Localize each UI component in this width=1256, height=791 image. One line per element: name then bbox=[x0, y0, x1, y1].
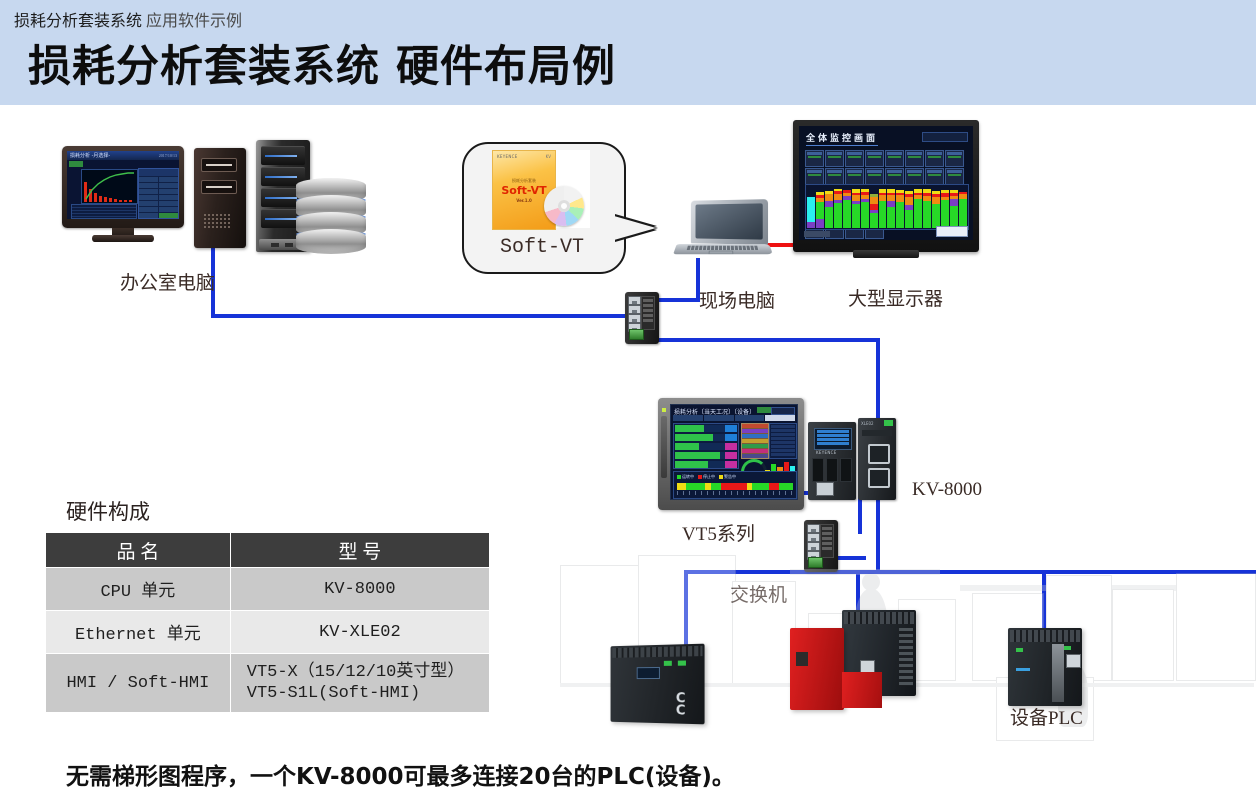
vt5-bar-row bbox=[675, 461, 737, 468]
timeline-segment bbox=[677, 483, 686, 490]
office-pc-group: 损耗分析 -月选择- 2017/10/13 bbox=[60, 140, 360, 265]
status-card[interactable] bbox=[945, 150, 964, 167]
vt5-bar-row bbox=[675, 443, 737, 450]
equipment-plc-right bbox=[1008, 620, 1096, 712]
kv-8000-lcd-display bbox=[814, 428, 852, 450]
legend-swatch bbox=[677, 475, 681, 479]
soft-vt-box-cover: KEYENCE KV 损耗分析套装 Soft-VT Ver.1.0 bbox=[492, 150, 556, 230]
status-led bbox=[678, 661, 686, 666]
vt5-tab[interactable] bbox=[673, 415, 703, 421]
panel-button[interactable] bbox=[159, 207, 178, 212]
plc-heat-fins bbox=[1010, 630, 1080, 642]
legend-swatch bbox=[719, 475, 723, 479]
stacked-bar bbox=[959, 186, 967, 228]
large-display-screen: 全体监控画面 bbox=[799, 126, 973, 240]
cell-model-line2: VT5-S1L(Soft-HMI) bbox=[247, 683, 488, 704]
bar-segment bbox=[959, 199, 967, 228]
plc-lcd bbox=[637, 667, 660, 679]
cell-name: Ethernet 单元 bbox=[46, 611, 231, 654]
label-equipment-plc: 设备PLC bbox=[1010, 703, 1083, 730]
vt5-list-row bbox=[742, 449, 768, 453]
vt5-tab[interactable] bbox=[735, 415, 765, 421]
status-card[interactable] bbox=[885, 150, 904, 167]
field-laptop bbox=[675, 200, 771, 262]
kv-xle02-port-1[interactable] bbox=[868, 444, 890, 464]
page-title: 损耗分析套装系统 硬件布局例 bbox=[28, 32, 616, 94]
vt5-screen: 损耗分析〔当天工况〕〔设备〕 运转中停止中警告中 bbox=[670, 404, 798, 500]
plc-ethernet-port[interactable] bbox=[1066, 654, 1081, 668]
vt5-bar-fill bbox=[675, 434, 713, 441]
status-led bbox=[1064, 646, 1071, 650]
header-eyebrow-strong: 损耗分析套装系统 bbox=[14, 13, 142, 30]
vent-hole bbox=[220, 222, 222, 224]
bar-segment bbox=[905, 197, 913, 205]
plc-connector-label: C bbox=[676, 703, 686, 718]
large-display-stand bbox=[853, 250, 919, 258]
database-disk bbox=[296, 229, 366, 254]
vt5-bar-rows bbox=[673, 423, 739, 469]
kv-xle02-tag: XLE02 bbox=[861, 421, 874, 426]
factory-machine bbox=[1176, 573, 1256, 681]
vent-hole bbox=[220, 226, 222, 228]
bar-segment bbox=[870, 197, 878, 204]
legend-label: 停止中 bbox=[703, 474, 715, 480]
switch-power-terminal bbox=[629, 329, 644, 340]
panel-button[interactable] bbox=[139, 201, 158, 206]
monitor-bezel: 损耗分析 -月选择- 2017/10/13 bbox=[62, 146, 184, 228]
panel-button[interactable] bbox=[159, 183, 178, 188]
page-header: 损耗分析套装系统 应用软件示例 损耗分析套装系统 硬件布局例 bbox=[0, 0, 1256, 105]
stacked-bar bbox=[941, 186, 949, 228]
vt5-bar-row bbox=[675, 452, 737, 459]
laptop-base bbox=[673, 244, 773, 254]
label-large-display: 大型显示器 bbox=[848, 284, 943, 311]
switch-port[interactable] bbox=[628, 296, 641, 305]
stacked-bar bbox=[950, 186, 958, 228]
stacked-bar bbox=[870, 186, 878, 228]
panel-button[interactable] bbox=[139, 183, 158, 188]
rack-blade bbox=[261, 146, 305, 165]
cell-model: KV-8000 bbox=[230, 568, 489, 611]
vt5-frame: 损耗分析〔当天工况〕〔设备〕 运转中停止中警告中 bbox=[658, 398, 804, 510]
factory-worker-head bbox=[862, 573, 880, 591]
bar-segment bbox=[879, 201, 887, 228]
vent-hole bbox=[208, 214, 210, 216]
timeline-segment bbox=[686, 483, 705, 490]
status-card[interactable] bbox=[845, 168, 864, 185]
bar-segment bbox=[923, 201, 931, 228]
status-card[interactable] bbox=[925, 168, 944, 185]
bar-segment bbox=[816, 219, 824, 228]
kv-8000-plc: KEYENCE XLE02 bbox=[808, 418, 896, 500]
kv-xle02-port-2[interactable] bbox=[868, 468, 890, 488]
kv-xle02-led-bar bbox=[862, 430, 892, 436]
cell-model: KV-XLE02 bbox=[230, 611, 489, 654]
laptop-touchpad bbox=[708, 251, 733, 255]
vent-hole bbox=[204, 218, 206, 220]
kv-xle02-ethernet-unit: XLE02 bbox=[858, 418, 896, 500]
optical-drive-bay bbox=[201, 158, 237, 172]
vt5-tab-active[interactable] bbox=[765, 415, 795, 421]
bar-segment bbox=[825, 207, 833, 228]
bar-segment bbox=[905, 210, 913, 228]
switch-port[interactable] bbox=[628, 314, 641, 323]
link-led bbox=[884, 420, 893, 426]
bar-segment bbox=[807, 197, 815, 222]
large-display-clock bbox=[922, 132, 968, 142]
cell-name: HMI / Soft-HMI bbox=[46, 654, 231, 713]
legend-label: 警告中 bbox=[724, 474, 736, 480]
vent-hole bbox=[208, 226, 210, 228]
bar-segment bbox=[807, 222, 815, 228]
plc-heat-fins bbox=[612, 646, 702, 658]
soft-vt-brand: KEYENCE bbox=[497, 154, 518, 159]
cell-name: CPU 单元 bbox=[46, 568, 231, 611]
status-card[interactable] bbox=[905, 168, 924, 185]
monitor-pareto-curve bbox=[82, 170, 137, 203]
footer-note: 无需梯形图程序，一个KV-8000可最多连接20台的PLC(设备)。 bbox=[66, 757, 735, 791]
monitor-panel-header bbox=[139, 169, 178, 176]
soft-vt-package-image: KEYENCE KV 损耗分析套装 Soft-VT Ver.1.0 bbox=[492, 150, 590, 228]
switch-port[interactable] bbox=[807, 524, 820, 533]
monitor-data-grid bbox=[71, 204, 137, 219]
vt5-bar-fill bbox=[675, 461, 708, 468]
stacked-bar bbox=[914, 186, 922, 228]
stacked-bar bbox=[896, 186, 904, 228]
vt5-power-led bbox=[662, 408, 666, 412]
plc-body: C C bbox=[611, 644, 705, 725]
vt5-loss-list bbox=[741, 423, 769, 459]
office-monitor: 损耗分析 -月选择- 2017/10/13 bbox=[62, 146, 184, 242]
vt5-table-row bbox=[771, 453, 795, 456]
vent-hole bbox=[204, 226, 206, 228]
vent-hole bbox=[228, 226, 230, 228]
vt5-legend-item: 警告中 bbox=[719, 474, 736, 480]
table-row: CPU 单元 KV-8000 bbox=[46, 568, 490, 611]
plc-red-lower-module bbox=[842, 672, 882, 708]
network-switch-top bbox=[625, 292, 659, 344]
vt5-bar-tail bbox=[725, 461, 737, 468]
vent-hole bbox=[204, 214, 206, 216]
panel-button[interactable] bbox=[159, 189, 178, 194]
label-kv8000: KV-8000 bbox=[912, 479, 982, 501]
vt5-bar-fill bbox=[675, 443, 699, 450]
switch-port[interactable] bbox=[807, 542, 820, 551]
vt5-legend-item: 停止中 bbox=[698, 474, 715, 480]
vt5-table-row bbox=[771, 425, 795, 428]
vt5-bar-row bbox=[675, 425, 737, 432]
cell-model: VT5-X（15/12/10英寸型） VT5-S1L(Soft-HMI) bbox=[230, 654, 489, 713]
vt5-tab[interactable] bbox=[704, 415, 734, 421]
panel-button[interactable] bbox=[159, 195, 178, 200]
label-field-pc: 现场电脑 bbox=[699, 286, 775, 313]
large-display-frame: 全体监控画面 bbox=[793, 120, 979, 252]
vent-hole bbox=[224, 226, 226, 228]
vt5-bar-fill bbox=[675, 425, 704, 432]
status-card[interactable] bbox=[805, 150, 824, 167]
stacked-bar bbox=[932, 186, 940, 228]
kv-8000-slot-bays bbox=[812, 458, 852, 482]
cable-office-to-switch bbox=[211, 314, 631, 318]
large-display-stacked-bar-chart bbox=[805, 184, 969, 230]
stacked-bar bbox=[852, 186, 860, 228]
column-header-model: 型 号 bbox=[230, 533, 489, 568]
large-display-action-button[interactable] bbox=[936, 226, 968, 237]
panel-button-row[interactable] bbox=[139, 177, 178, 182]
stacked-bar bbox=[887, 186, 895, 228]
stacked-bar bbox=[905, 186, 913, 228]
table-row: Ethernet 单元 KV-XLE02 bbox=[46, 611, 490, 654]
vt5-list-row bbox=[742, 434, 768, 438]
vt5-timeline-ticks bbox=[677, 491, 793, 495]
plc-body-red bbox=[790, 628, 844, 710]
bar-segment bbox=[914, 199, 922, 228]
kv-8000-brand-label: KEYENCE bbox=[816, 450, 837, 455]
soft-vt-brand-right: KV bbox=[546, 154, 551, 159]
vt5-table-row bbox=[771, 433, 795, 436]
monitor-pareto-plot bbox=[81, 169, 138, 204]
bar-segment bbox=[896, 202, 904, 228]
panel-button[interactable] bbox=[139, 177, 158, 182]
cable-switch-to-trunk bbox=[648, 338, 880, 342]
status-card[interactable] bbox=[925, 150, 944, 167]
vent-hole bbox=[220, 214, 222, 216]
status-card[interactable] bbox=[885, 168, 904, 185]
vt5-table-row bbox=[771, 441, 795, 444]
bar-segment bbox=[843, 200, 851, 228]
vt5-clock bbox=[771, 407, 795, 415]
legend-label: 运转中 bbox=[682, 474, 694, 480]
equipment-plc-middle bbox=[790, 610, 916, 710]
plc-heat-fins bbox=[844, 612, 914, 624]
bar-segment bbox=[941, 200, 949, 228]
vt5-timeline-panel: 运转中停止中警告中 bbox=[673, 471, 797, 499]
stacked-bar bbox=[861, 186, 869, 228]
panel-button-row[interactable] bbox=[139, 189, 178, 194]
timeline-segment bbox=[779, 483, 793, 490]
large-display-title: 全体监控画面 bbox=[806, 131, 878, 146]
status-led bbox=[1016, 648, 1023, 652]
vt5-list-row bbox=[742, 439, 768, 443]
vent-hole bbox=[208, 222, 210, 224]
large-display-status-cards bbox=[805, 150, 967, 182]
vent-hole bbox=[212, 218, 214, 220]
bar-segment bbox=[896, 195, 904, 202]
vt5-hmi-panel: 损耗分析〔当天工况〕〔设备〕 运转中停止中警告中 bbox=[658, 398, 804, 510]
vent-hole bbox=[216, 214, 218, 216]
table-header-row: 品 名 型 号 bbox=[46, 533, 490, 568]
timeline-segment bbox=[752, 483, 768, 490]
vent-hole bbox=[208, 218, 210, 220]
status-card[interactable] bbox=[905, 150, 924, 167]
plc-notch bbox=[796, 652, 808, 666]
bar-segment bbox=[861, 202, 869, 228]
monitor-tab-active bbox=[69, 161, 83, 167]
vt5-tab-bar[interactable] bbox=[673, 415, 795, 421]
stacked-bar bbox=[816, 186, 824, 228]
status-card[interactable] bbox=[825, 168, 844, 185]
vt5-bar-tail bbox=[725, 452, 737, 459]
label-soft-vt: Soft-VT bbox=[462, 236, 622, 259]
timeline-segment bbox=[769, 483, 779, 490]
stacked-bar bbox=[825, 186, 833, 228]
status-card[interactable] bbox=[865, 150, 884, 167]
monitor-screen: 损耗分析 -月选择- 2017/10/13 bbox=[67, 151, 179, 219]
tower-vent-grid bbox=[204, 214, 234, 232]
vt5-list-row bbox=[742, 454, 768, 458]
panel-button[interactable] bbox=[139, 207, 158, 212]
bar-segment bbox=[870, 213, 878, 228]
vent-hole bbox=[224, 214, 226, 216]
bar-segment bbox=[852, 204, 860, 228]
vent-hole bbox=[228, 218, 230, 220]
vt5-bar-row bbox=[675, 434, 737, 441]
status-led bbox=[664, 661, 672, 666]
bar-segment bbox=[932, 204, 940, 228]
header-eyebrow-light: 应用软件示例 bbox=[146, 13, 242, 30]
bar-segment bbox=[950, 206, 958, 228]
vent-hole bbox=[212, 222, 214, 224]
bar-segment bbox=[887, 207, 895, 228]
bar-segment bbox=[816, 202, 824, 219]
stacked-bar bbox=[879, 186, 887, 228]
laptop-lid bbox=[691, 199, 768, 245]
laptop-screen bbox=[695, 203, 762, 239]
laptop-keyboard bbox=[687, 246, 760, 250]
panel-button[interactable] bbox=[139, 189, 158, 194]
monitor-screen-title: 损耗分析 -月选择- bbox=[70, 152, 110, 159]
vent-hole bbox=[204, 222, 206, 224]
vent-hole bbox=[212, 226, 214, 228]
large-display-status-strip bbox=[804, 231, 830, 237]
vt5-bar-tail bbox=[725, 443, 737, 450]
panel-button-row[interactable] bbox=[139, 207, 178, 212]
monitor-screen-clock: 2017/10/13 bbox=[159, 153, 177, 158]
vent-hole bbox=[220, 218, 222, 220]
panel-button-row[interactable] bbox=[139, 213, 178, 218]
factory-machine bbox=[732, 581, 796, 687]
vent-hole bbox=[224, 222, 226, 224]
large-display: 全体监控画面 bbox=[793, 120, 979, 262]
timeline-segment bbox=[711, 483, 721, 490]
vent-hole bbox=[228, 214, 230, 216]
vt5-side-slot bbox=[661, 416, 667, 478]
vt5-legend: 运转中停止中警告中 bbox=[677, 474, 736, 480]
vt5-table-row bbox=[771, 445, 795, 448]
switch-port[interactable] bbox=[628, 305, 641, 314]
status-card[interactable] bbox=[805, 168, 824, 185]
hardware-section-heading: 硬件构成 bbox=[66, 496, 150, 526]
factory-machine bbox=[1112, 589, 1174, 681]
vt5-list-row bbox=[742, 429, 768, 433]
vt5-legend-item: 运转中 bbox=[677, 474, 694, 480]
panel-button[interactable] bbox=[159, 201, 178, 206]
vent-hole bbox=[216, 222, 218, 224]
plc-model-label bbox=[1016, 668, 1030, 671]
status-card[interactable] bbox=[825, 150, 844, 167]
vt5-bar-tail bbox=[725, 434, 737, 441]
status-card[interactable] bbox=[945, 168, 964, 185]
vt5-table-row bbox=[771, 449, 795, 452]
panel-button-row[interactable] bbox=[139, 183, 178, 188]
vent-hole bbox=[216, 218, 218, 220]
switch-led-panel bbox=[820, 524, 834, 558]
grid-row bbox=[72, 217, 136, 219]
hardware-configuration-table: 品 名 型 号 CPU 单元 KV-8000 Ethernet 单元 KV-XL… bbox=[45, 532, 490, 713]
vt5-data-table bbox=[769, 423, 797, 459]
kv-8000-cpu-unit: KEYENCE bbox=[808, 422, 856, 500]
monitor-titlebar: 损耗分析 -月选择- 2017/10/13 bbox=[67, 151, 179, 160]
vent-hole bbox=[224, 218, 226, 220]
vent-hole bbox=[216, 226, 218, 228]
cd-disc-icon bbox=[544, 186, 584, 226]
plc-terminal-block bbox=[899, 628, 913, 686]
panel-button[interactable] bbox=[159, 177, 178, 182]
office-pc-tower bbox=[194, 148, 246, 248]
timeline-segment bbox=[721, 483, 747, 490]
cell-model-line1: VT5-X（15/12/10英寸型） bbox=[247, 662, 488, 683]
switch-led-panel bbox=[641, 296, 655, 330]
table-row: HMI / Soft-HMI VT5-X（15/12/10英寸型） VT5-S1… bbox=[46, 654, 490, 713]
vent-hole bbox=[212, 214, 214, 216]
volume-icon bbox=[757, 407, 771, 413]
database-storage bbox=[296, 178, 366, 258]
status-card[interactable] bbox=[845, 150, 864, 167]
legend-swatch bbox=[698, 475, 702, 479]
equipment-plc-left: C C bbox=[608, 645, 704, 725]
panel-button[interactable] bbox=[139, 213, 158, 218]
column-header-name: 品 名 bbox=[46, 533, 231, 568]
plc-body bbox=[1008, 628, 1082, 706]
kv-8000-ethernet-port[interactable] bbox=[816, 482, 834, 496]
bar-segment bbox=[932, 197, 940, 205]
stacked-bar bbox=[923, 186, 931, 228]
vent-hole bbox=[228, 222, 230, 224]
status-card[interactable] bbox=[865, 168, 884, 185]
header-eyebrow: 损耗分析套装系统 应用软件示例 bbox=[14, 7, 242, 31]
stacked-bar bbox=[834, 186, 842, 228]
vt5-bar-fill bbox=[675, 452, 720, 459]
stacked-bar bbox=[843, 186, 851, 228]
bar-segment bbox=[950, 199, 958, 206]
monitor-base bbox=[92, 235, 154, 242]
vt5-timeline-strip bbox=[677, 483, 793, 490]
panel-button[interactable] bbox=[159, 213, 178, 218]
panel-button-row[interactable] bbox=[139, 195, 178, 200]
label-vt5-series: VT5系列 bbox=[682, 519, 755, 546]
monitor-control-panel bbox=[138, 168, 179, 219]
bar-segment bbox=[825, 194, 833, 202]
panel-button[interactable] bbox=[139, 195, 158, 200]
label-office-pc: 办公室电脑 bbox=[120, 268, 215, 295]
bar-segment bbox=[834, 203, 842, 228]
vt5-list-row bbox=[742, 444, 768, 448]
plc-silver-strip bbox=[1052, 644, 1064, 702]
switch-port[interactable] bbox=[807, 533, 820, 542]
vt5-list-row bbox=[742, 424, 768, 428]
stacked-bar bbox=[807, 186, 815, 228]
panel-button-row[interactable] bbox=[139, 201, 178, 206]
floppy-drive-bay bbox=[201, 180, 237, 194]
vt5-table-row bbox=[771, 429, 795, 432]
vt5-table-row bbox=[771, 437, 795, 440]
vt5-bar-tail bbox=[725, 425, 737, 432]
